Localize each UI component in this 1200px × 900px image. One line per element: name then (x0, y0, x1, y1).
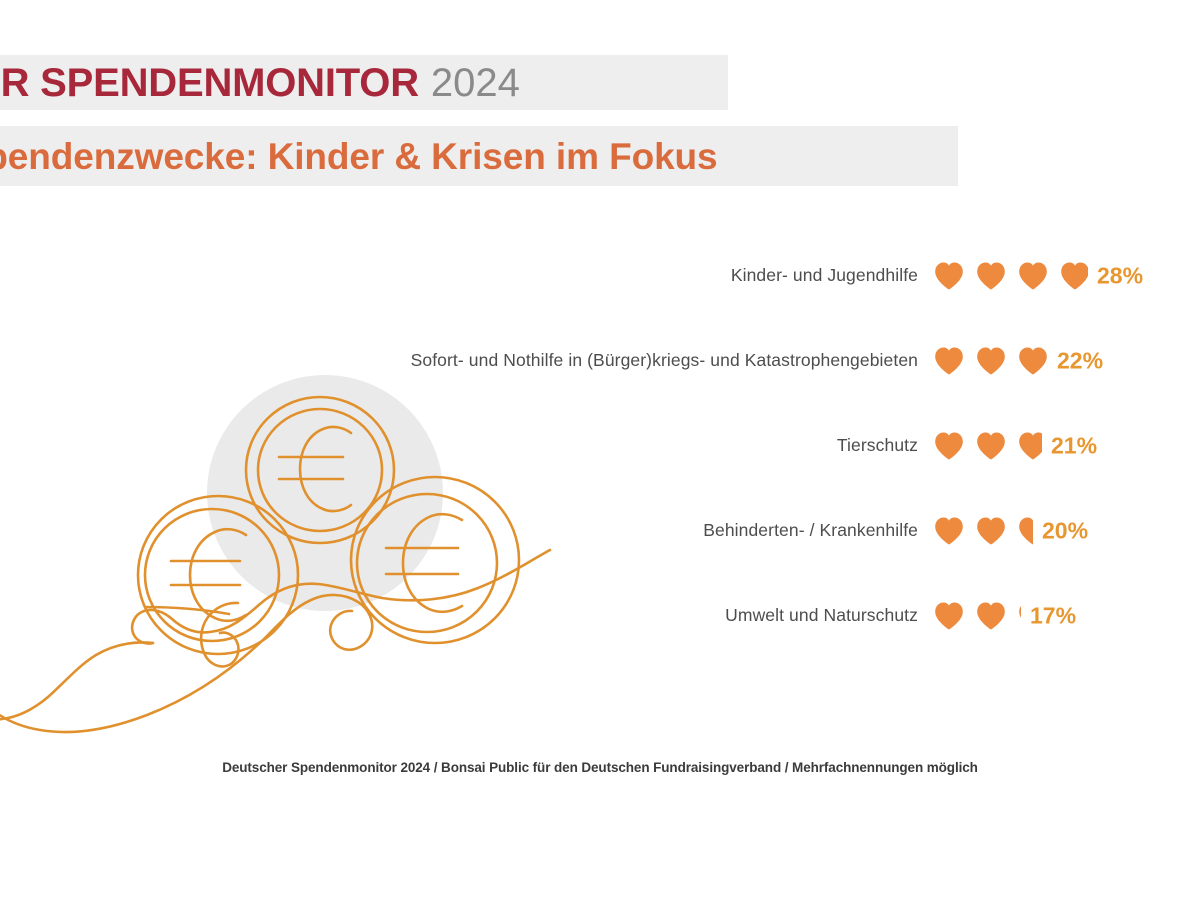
heart-icon (934, 432, 964, 460)
heart-gauge (934, 514, 1033, 548)
hand-with-euro-coins-illustration (0, 375, 590, 745)
heart-strip (934, 599, 1021, 633)
heart-icon (934, 517, 964, 545)
heart-icon (1018, 347, 1048, 375)
heart-icon (976, 262, 1006, 290)
heart-icon (934, 347, 964, 375)
heart-strip (934, 514, 1033, 548)
title-band-secondary: 5-Spendenzwecke: Kinder & Krisen im Foku… (0, 126, 958, 186)
infographic-slide: TSCHER SPENDENMONITOR 2024 5-Spendenzwec… (0, 0, 1200, 900)
heart-icon (1018, 517, 1033, 545)
page-subtitle: 5-Spendenzwecke: Kinder & Krisen im Foku… (0, 138, 718, 175)
heart-strip (934, 429, 1042, 463)
heart-gauge (934, 599, 1021, 633)
heart-gauge (934, 429, 1042, 463)
title-band-primary: TSCHER SPENDENMONITOR 2024 (0, 55, 728, 110)
chart-row-label: Kinder- und Jugendhilfe (198, 265, 918, 286)
chart-row-value: 20% (1042, 517, 1088, 544)
heart-strip (934, 344, 1048, 378)
page-title: TSCHER SPENDENMONITOR (0, 63, 419, 103)
chart-row-value: 17% (1030, 602, 1076, 629)
chart-row-value: 28% (1097, 262, 1143, 289)
heart-strip (934, 259, 1088, 293)
source-note: Deutscher Spendenmonitor 2024 / Bonsai P… (0, 760, 1200, 775)
heart-icon (1018, 262, 1048, 290)
chart-row-value: 22% (1057, 347, 1103, 374)
heart-icon (1018, 432, 1042, 460)
heart-icon (976, 517, 1006, 545)
heart-gauge (934, 259, 1088, 293)
heart-icon (976, 347, 1006, 375)
heart-icon (976, 432, 1006, 460)
chart-row-label: Sofort- und Nothilfe in (Bürger)kriegs- … (198, 350, 918, 371)
heart-icon (976, 602, 1006, 630)
heart-gauge (934, 344, 1048, 378)
chart-row-value: 21% (1051, 432, 1097, 459)
heart-icon (1018, 602, 1021, 630)
chart-row: Kinder- und Jugendhilfe28% (0, 233, 1200, 318)
heart-icon (934, 602, 964, 630)
page-title-year: 2024 (419, 63, 520, 103)
heart-icon (934, 262, 964, 290)
heart-icon (1060, 262, 1088, 290)
